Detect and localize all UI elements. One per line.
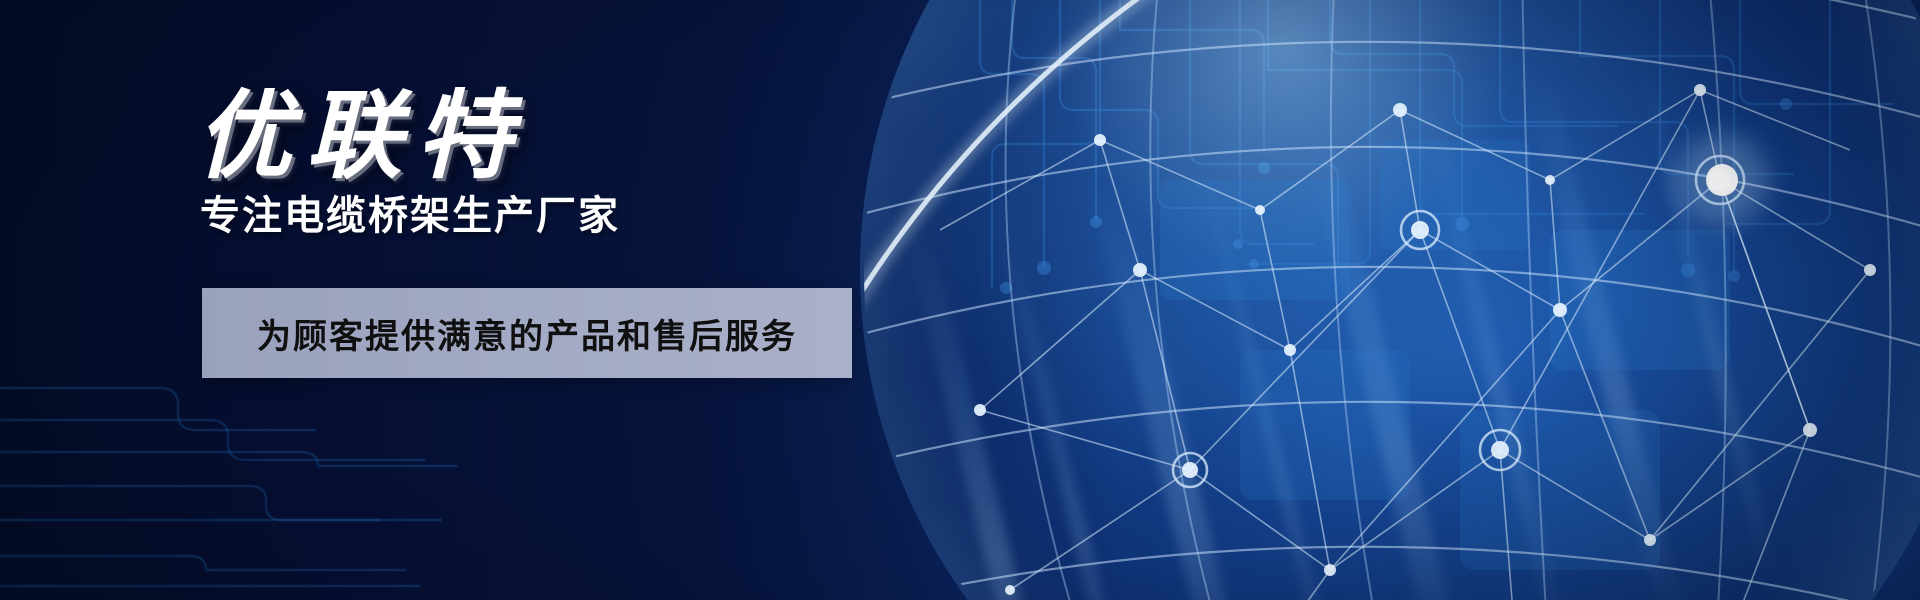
promo-box: 为顾客提供满意的产品和售后服务	[202, 288, 852, 378]
hero-banner: 优联特 专注电缆桥架生产厂家 为顾客提供满意的产品和售后服务	[0, 0, 1920, 600]
promo-box-text: 为顾客提供满意的产品和售后服务	[257, 309, 797, 358]
primary-tagline: 专注电缆桥架生产厂家	[200, 183, 620, 241]
banner-content: 优联特 专注电缆桥架生产厂家 为顾客提供满意的产品和售后服务	[0, 0, 1920, 600]
brand-name: 优联特	[196, 58, 526, 197]
